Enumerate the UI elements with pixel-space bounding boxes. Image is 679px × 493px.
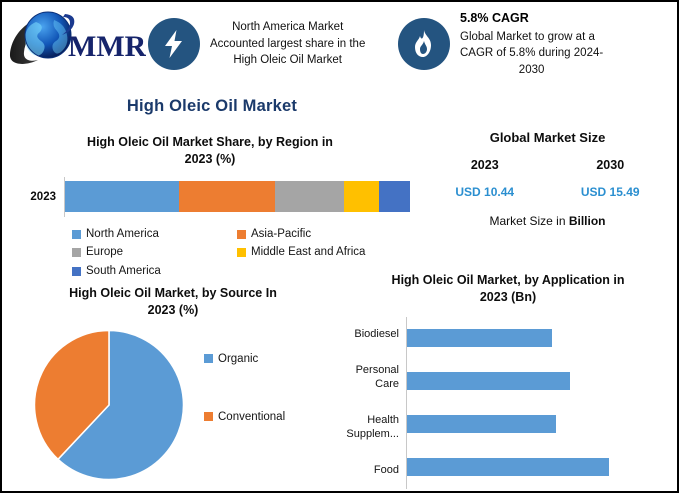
gms-footer-unit: Billion — [569, 214, 606, 228]
region-segment-4[interactable] — [379, 181, 410, 212]
application-category-line: Personal — [340, 364, 399, 378]
legend-swatch-icon — [237, 230, 246, 239]
source-chart-title: High Oleic Oil Market, by Source In 2023… — [8, 285, 338, 319]
region-chart-title-line-1: High Oleic Oil Market Share, by Region i… — [10, 134, 410, 151]
cagr-line-2: CAGR of 5.8% during 2024- — [460, 45, 603, 62]
application-category-line: Care — [340, 378, 399, 392]
region-chart-title: High Oleic Oil Market Share, by Region i… — [10, 134, 410, 168]
application-chart: High Oleic Oil Market, by Application in… — [340, 272, 676, 489]
global-market-size-footer: Market Size in Billion — [422, 214, 673, 228]
legend-swatch-icon — [72, 248, 81, 257]
legend-swatch-icon — [237, 248, 246, 257]
application-bar-row — [407, 360, 676, 403]
mmr-wordmark: MMR — [68, 30, 146, 63]
page-title: High Oleic Oil Market — [2, 97, 422, 116]
source-legend-item[interactable]: Organic — [204, 353, 285, 365]
global-market-size-panel: Global Market Size 2023 2030 USD 10.44 U… — [422, 130, 673, 228]
region-legend-label: Asia-Pacific — [251, 225, 311, 244]
source-legend-label: Conventional — [218, 411, 285, 423]
application-bar-3[interactable] — [407, 458, 609, 476]
mmr-logo: MMR — [2, 2, 148, 86]
region-legend-item[interactable]: Asia-Pacific — [237, 225, 402, 244]
region-share-chart: High Oleic Oil Market Share, by Region i… — [10, 134, 410, 281]
application-bar-row — [407, 403, 676, 446]
region-category-label: 2023 — [10, 191, 64, 203]
header-band: MMR North America Market Accounted large… — [2, 2, 679, 86]
application-bars — [407, 317, 676, 489]
infographic-canvas: MMR North America Market Accounted large… — [0, 0, 679, 493]
application-category-line: Biodiesel — [340, 328, 399, 342]
application-category-label: Food — [340, 464, 406, 478]
global-market-size-years: 2023 2030 — [422, 158, 673, 172]
region-legend-item[interactable]: North America — [72, 225, 237, 244]
source-legend-label: Organic — [218, 353, 258, 365]
region-segment-1[interactable] — [179, 181, 276, 212]
region-legend-label: Middle East and Africa — [251, 243, 365, 262]
gms-year-2030: 2030 — [548, 158, 674, 172]
mmr-globe-logo-icon: MMR — [6, 8, 146, 70]
cagr-line-3: 2030 — [460, 62, 603, 79]
source-chart-title-line-2: 2023 (%) — [8, 302, 338, 319]
application-bar-0[interactable] — [407, 329, 552, 347]
highlight-line-3: High Oleic Oil Market — [210, 52, 365, 69]
region-legend-item[interactable]: Middle East and Africa — [237, 243, 402, 262]
region-legend-label: South America — [86, 262, 161, 281]
cagr-highlight: 5.8% CAGR Global Market to grow at a CAG… — [398, 2, 679, 86]
gms-footer-prefix: Market Size in — [489, 214, 568, 228]
region-segment-0[interactable] — [65, 181, 179, 212]
legend-swatch-icon — [204, 354, 213, 363]
legend-swatch-icon — [204, 412, 213, 421]
region-plot-area: 2023 — [10, 177, 410, 217]
region-segment-3[interactable] — [344, 181, 379, 212]
lightning-bolt-glyph — [161, 29, 187, 59]
source-plot-area: OrganicConventional — [8, 327, 338, 492]
region-legend-label: Europe — [86, 243, 123, 262]
cagr-line-1: Global Market to grow at a — [460, 29, 603, 46]
region-legend-item[interactable]: South America — [72, 262, 237, 281]
highlight-line-1: North America Market — [210, 19, 365, 36]
application-category-line: Health — [340, 414, 399, 428]
north-america-highlight-text: North America Market Accounted largest s… — [210, 19, 365, 69]
gms-year-2023: 2023 — [422, 158, 548, 172]
application-bar-row — [407, 446, 676, 489]
gms-value-2023: USD 10.44 — [422, 185, 548, 199]
region-stacked-bar[interactable] — [65, 181, 410, 212]
global-market-size-title: Global Market Size — [422, 130, 673, 145]
application-category-axis: BiodieselPersonalCareHealthSupplem...Foo… — [340, 317, 406, 489]
region-legend-item[interactable]: Europe — [72, 243, 237, 262]
legend-swatch-icon — [72, 267, 81, 276]
source-legend-item[interactable]: Conventional — [204, 411, 285, 423]
application-bar-2[interactable] — [407, 415, 556, 433]
region-chart-title-line-2: 2023 (%) — [10, 151, 410, 168]
flame-glyph — [412, 29, 436, 59]
legend-swatch-icon — [72, 230, 81, 239]
source-share-chart: High Oleic Oil Market, by Source In 2023… — [8, 285, 338, 492]
application-category-line: Supplem... — [340, 428, 399, 442]
lightning-bolt-icon — [148, 18, 200, 70]
source-legend: OrganicConventional — [204, 353, 285, 469]
application-chart-title: High Oleic Oil Market, by Application in… — [340, 272, 676, 306]
application-chart-title-line-1: High Oleic Oil Market, by Application in — [340, 272, 676, 289]
cagr-headline: 5.8% CAGR — [460, 9, 603, 27]
region-segment-2[interactable] — [275, 181, 344, 212]
application-category-line: Food — [340, 464, 399, 478]
highlight-line-2: Accounted largest share in the — [210, 36, 365, 53]
source-pie[interactable] — [33, 329, 185, 481]
cagr-highlight-text: 5.8% CAGR Global Market to grow at a CAG… — [460, 9, 603, 78]
application-plot-area: BiodieselPersonalCareHealthSupplem...Foo… — [340, 317, 676, 489]
source-chart-title-line-1: High Oleic Oil Market, by Source In — [8, 285, 338, 302]
application-category-label: HealthSupplem... — [340, 414, 406, 442]
application-bar-1[interactable] — [407, 372, 570, 390]
gms-value-2030: USD 15.49 — [548, 185, 674, 199]
north-america-highlight: North America Market Accounted largest s… — [148, 2, 398, 86]
flame-icon — [398, 18, 450, 70]
application-bar-row — [407, 317, 676, 360]
application-category-label: Biodiesel — [340, 328, 406, 342]
application-chart-title-line-2: 2023 (Bn) — [340, 289, 676, 306]
application-category-label: PersonalCare — [340, 364, 406, 392]
global-market-size-values: USD 10.44 USD 15.49 — [422, 185, 673, 199]
region-legend-label: North America — [86, 225, 159, 244]
